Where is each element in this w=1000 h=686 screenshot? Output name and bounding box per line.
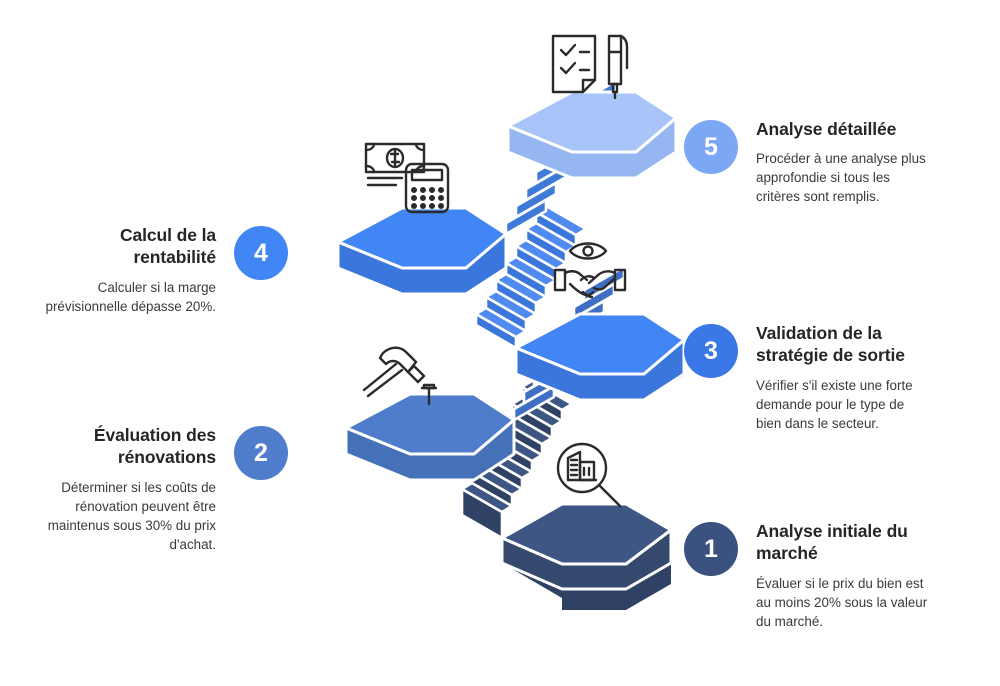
money-calculator-icon xyxy=(362,138,458,214)
step-1-badge: 1 xyxy=(684,522,738,576)
staircase-illustration xyxy=(326,18,696,618)
step-2-text: Évaluation des rénovations Déterminer si… xyxy=(44,424,216,554)
step-2-badge: 2 xyxy=(234,426,288,480)
step-2-title: Évaluation des rénovations xyxy=(44,424,216,469)
step-3-description: Vérifier s'il existe une forte demande p… xyxy=(756,376,928,433)
step-4-badge: 4 xyxy=(234,226,288,280)
step-4-title: Calcul de la rentabilité xyxy=(44,224,216,269)
step-5: 5 Analyse détaillée Procéder à une analy… xyxy=(684,118,928,206)
step-5-badge: 5 xyxy=(684,120,738,174)
step-4: 4 Calcul de la rentabilité Calculer si l… xyxy=(44,224,288,316)
step-4-text: Calcul de la rentabilité Calculer si la … xyxy=(44,224,216,316)
eye-handshake-icon xyxy=(550,238,630,302)
step-3: 3 Validation de la stratégie de sortie V… xyxy=(684,322,928,433)
clipboard-pen-icon xyxy=(545,28,637,104)
step-2-description: Déterminer si les coûts de rénovation pe… xyxy=(44,478,216,554)
step-3-badge: 3 xyxy=(684,324,738,378)
step-1-description: Évaluer si le prix du bien est au moins … xyxy=(756,574,928,631)
hammer-nail-icon xyxy=(362,340,448,412)
step-1-text: Analyse initiale du marché Évaluer si le… xyxy=(756,520,928,631)
step-3-title: Validation de la stratégie de sortie xyxy=(756,322,928,367)
step-4-description: Calculer si la marge prévisionnelle dépa… xyxy=(44,278,216,316)
platform-1 xyxy=(502,504,671,610)
magnifier-building-icon xyxy=(550,438,626,514)
step-5-title: Analyse détaillée xyxy=(756,118,928,140)
step-5-text: Analyse détaillée Procéder à une analyse… xyxy=(756,118,928,206)
infographic-canvas: 5 Analyse détaillée Procéder à une analy… xyxy=(0,0,1000,686)
platform-4 xyxy=(338,208,506,294)
step-1-title: Analyse initiale du marché xyxy=(756,520,928,565)
step-5-description: Procéder à une analyse plus approfondie … xyxy=(756,149,928,206)
step-3-text: Validation de la stratégie de sortie Vér… xyxy=(756,322,928,433)
platform-5 xyxy=(508,92,676,178)
step-1: 1 Analyse initiale du marché Évaluer si … xyxy=(684,520,928,631)
step-2: 2 Évaluation des rénovations Déterminer … xyxy=(44,424,288,554)
